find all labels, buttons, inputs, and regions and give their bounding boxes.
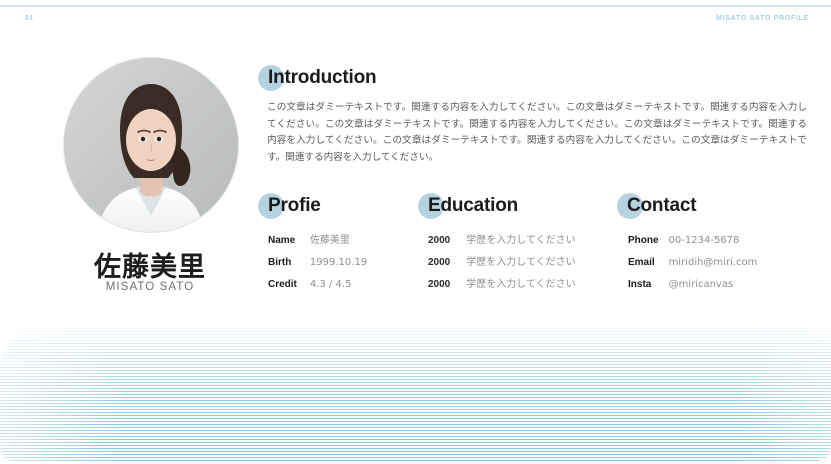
row-label: Birth bbox=[268, 258, 310, 280]
profile-name-english: MISATO SATO bbox=[0, 281, 300, 293]
section-heading-education: Education bbox=[428, 195, 518, 217]
row-value: 00-1234-5678 bbox=[669, 236, 758, 258]
table-row: Birth 1999.10.19 bbox=[268, 258, 367, 280]
row-label: Name bbox=[268, 236, 310, 258]
row-label: 2000 bbox=[428, 258, 466, 280]
row-value: 1999.10.19 bbox=[310, 258, 367, 280]
row-value: 学歴を入力してください bbox=[466, 258, 575, 280]
row-value: 佐藤美里 bbox=[310, 236, 367, 258]
row-label: 2000 bbox=[428, 280, 466, 302]
section-heading-profile-label: Profie bbox=[268, 195, 321, 216]
row-label: Credit bbox=[268, 280, 310, 302]
header-title: MISATO SATO PROFILE bbox=[716, 15, 809, 22]
slide-canvas: 01 MISATO SATO PROFILE bbox=[0, 0, 831, 464]
table-row: Credit 4.3 / 4.5 bbox=[268, 280, 367, 302]
section-heading-contact-label: Contact bbox=[627, 195, 696, 216]
row-value: @miricanvas bbox=[669, 280, 758, 302]
section-heading-education-label: Education bbox=[428, 195, 518, 216]
page-number: 01 bbox=[25, 15, 34, 22]
row-value: 学歴を入力してください bbox=[466, 236, 575, 258]
avatar bbox=[63, 57, 239, 233]
profile-name-japanese: 佐藤美里 bbox=[0, 245, 300, 284]
table-row: 2000 学歴を入力してください bbox=[428, 280, 576, 302]
row-label: Phone bbox=[628, 236, 669, 258]
education-detail-table: 2000 学歴を入力してください 2000 学歴を入力してください 2000 学… bbox=[428, 236, 576, 302]
section-heading-contact: Contact bbox=[627, 195, 696, 217]
table-row: Insta @miricanvas bbox=[628, 280, 757, 302]
section-heading-profile: Profie bbox=[268, 195, 321, 217]
table-row: Phone 00-1234-5678 bbox=[628, 236, 757, 258]
section-heading-introduction: Introduction bbox=[268, 67, 376, 89]
contact-detail-table: Phone 00-1234-5678 Email miridih@miri.co… bbox=[628, 236, 757, 302]
row-label: Email bbox=[628, 258, 669, 280]
row-label: 2000 bbox=[428, 236, 466, 258]
row-value: miridih@miri.com bbox=[669, 258, 758, 280]
band-fade-left bbox=[0, 325, 120, 461]
table-row: Email miridih@miri.com bbox=[628, 258, 757, 280]
section-heading-introduction-label: Introduction bbox=[268, 67, 376, 88]
band-fade-right bbox=[741, 325, 831, 461]
introduction-body-text: この文章はダミーテキストです。関連する内容を入力してください。この文章はダミーテ… bbox=[267, 100, 807, 166]
profile-detail-table: Name 佐藤美里 Birth 1999.10.19 Credit 4.3 / … bbox=[268, 236, 367, 302]
decorative-stripe-band bbox=[0, 325, 831, 461]
portrait-photo-icon bbox=[64, 58, 238, 232]
table-row: Name 佐藤美里 bbox=[268, 236, 367, 258]
top-divider-rule bbox=[0, 5, 831, 7]
table-row: 2000 学歴を入力してください bbox=[428, 236, 576, 258]
table-row: 2000 学歴を入力してください bbox=[428, 258, 576, 280]
row-value: 学歴を入力してください bbox=[466, 280, 575, 302]
row-value: 4.3 / 4.5 bbox=[310, 280, 367, 302]
row-label: Insta bbox=[628, 280, 669, 302]
